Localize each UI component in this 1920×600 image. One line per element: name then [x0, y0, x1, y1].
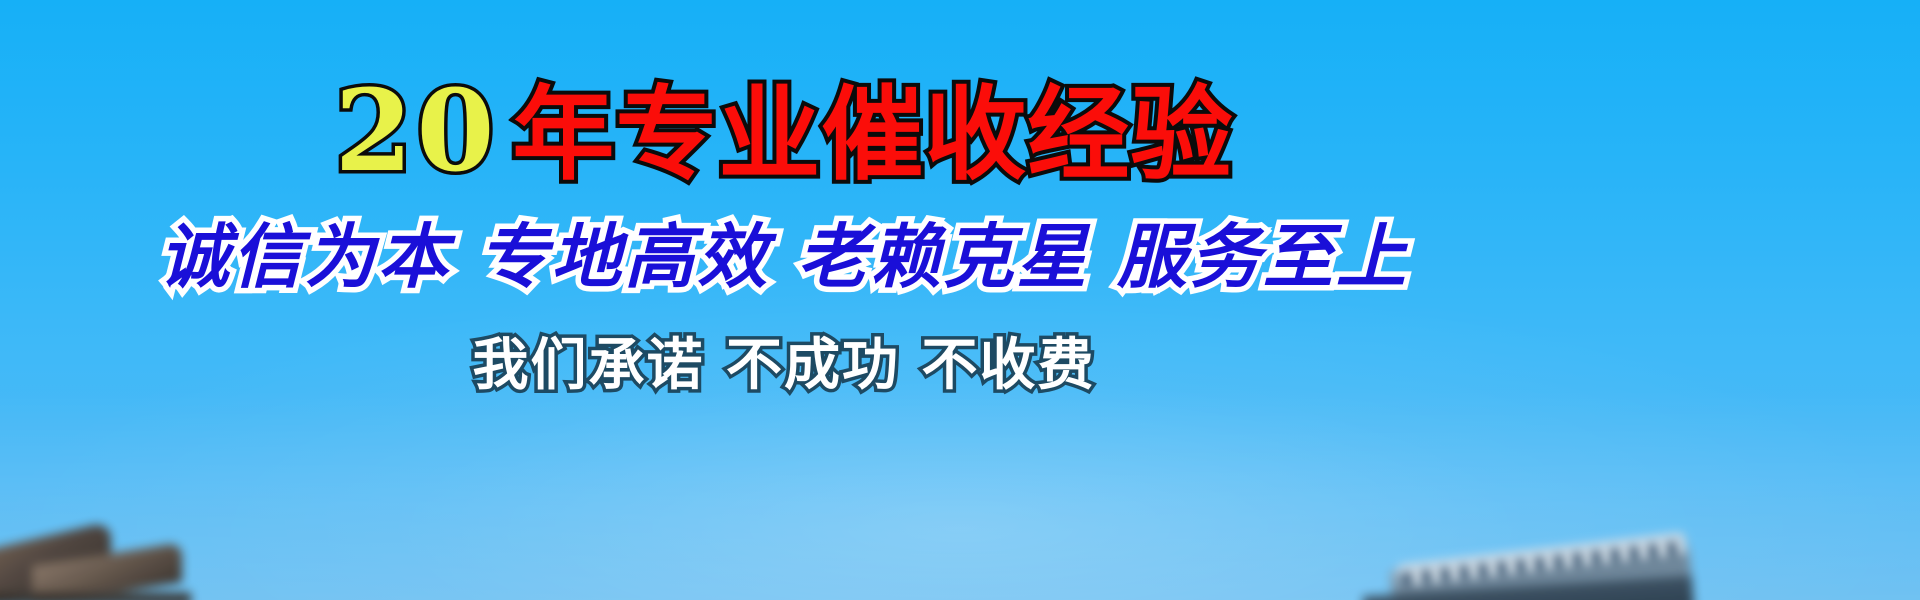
- headline-text: 年专业催收经验: [512, 76, 1233, 195]
- slogan-text: 诚信为本 专地高效 老赖克星 服务至上: [159, 216, 1409, 298]
- headline-number: 20: [335, 66, 499, 197]
- promo-banner: 20年专业催收经验 诚信为本 专地高效 老赖克星 服务至上 我们承诺 不成功 不…: [0, 0, 1920, 600]
- promise-line: 我们承诺 不成功 不收费: [0, 338, 1568, 394]
- promise-text: 我们承诺 不成功 不收费: [473, 333, 1096, 398]
- banner-text-block: 20年专业催收经验 诚信为本 专地高效 老赖克星 服务至上 我们承诺 不成功 不…: [0, 0, 1568, 600]
- headline: 20年专业催收经验: [0, 76, 1568, 188]
- slogan-line: 诚信为本 专地高效 老赖克星 服务至上: [0, 222, 1568, 292]
